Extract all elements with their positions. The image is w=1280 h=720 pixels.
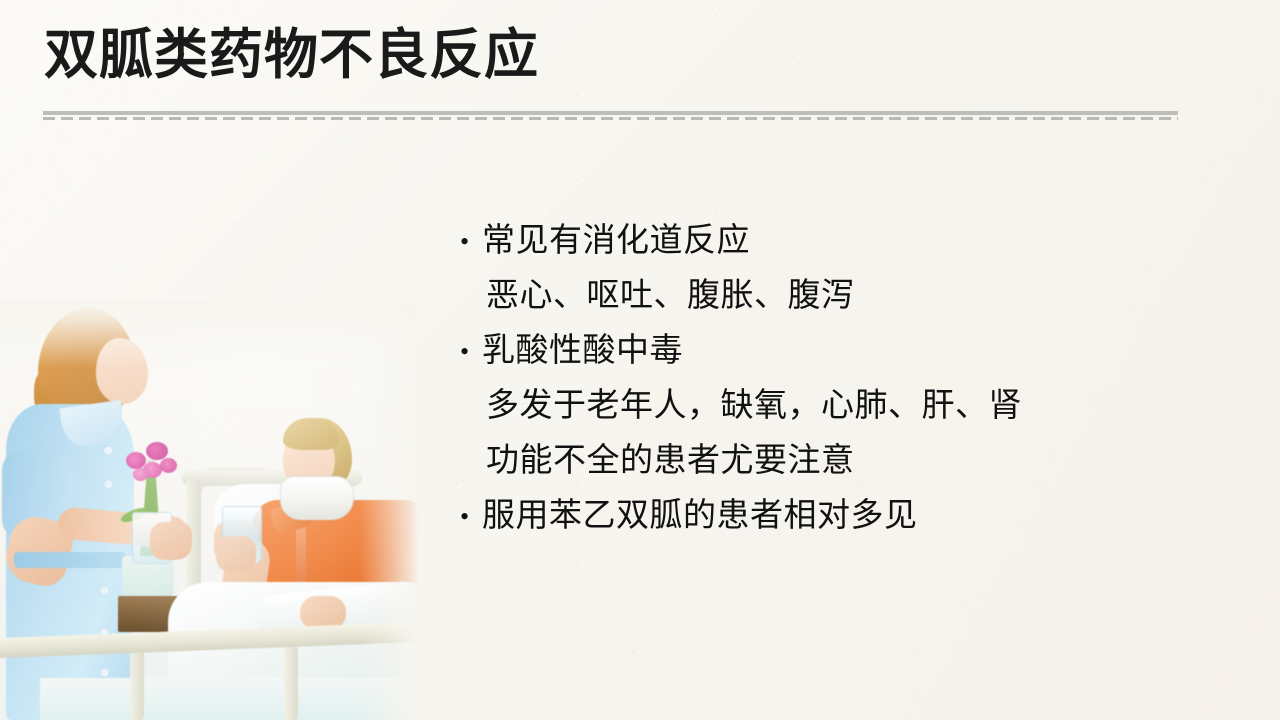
slide-title: 双胍类药物不良反应 (44, 22, 1194, 88)
nurse-uniform-button (100, 668, 109, 677)
hospital-photo (0, 300, 418, 720)
patient-neck-brace (280, 476, 354, 520)
title-block: 双胍类药物不良反应 (44, 22, 1194, 88)
pink-flower (146, 442, 168, 460)
nurse-uniform-button (100, 586, 109, 595)
sub-line-2: 多发于老年人，缺氧，心肺、肝、肾 (458, 379, 1248, 434)
title-divider (43, 111, 1178, 120)
sub-line-3: 功能不全的患者尤要注意 (458, 434, 1248, 489)
nurse-belt (14, 552, 126, 568)
mattress (40, 678, 418, 720)
divider-dashed-line (43, 117, 1178, 120)
body-text-block: 常见有消化道反应 恶心、呕吐、腹胀、腹泻 乳酸性酸中毒 多发于老年人，缺氧，心肺… (458, 214, 1248, 544)
divider-solid-line (43, 111, 1178, 115)
nurse-uniform-button (104, 480, 113, 489)
nurse-uniform-button (104, 446, 113, 455)
patient-hand-fingers (216, 536, 256, 572)
nurse-hand (150, 522, 192, 560)
bullet-line-3: 服用苯乙双胍的患者相对多见 (458, 489, 1248, 544)
sub-line-1: 恶心、呕吐、腹胀、腹泻 (458, 269, 1248, 324)
photo-canvas (0, 300, 418, 720)
pink-flower (160, 458, 177, 473)
presentation-slide: 双胍类药物不良反应 常见有消化道反应 恶心、呕吐、腹胀、腹泻 乳酸性酸中毒 多发… (0, 0, 1280, 720)
bullet-line-1: 常见有消化道反应 (458, 214, 1248, 269)
pink-flower (133, 468, 148, 481)
bed-rail-post (284, 644, 298, 720)
bullet-line-2: 乳酸性酸中毒 (458, 324, 1248, 379)
